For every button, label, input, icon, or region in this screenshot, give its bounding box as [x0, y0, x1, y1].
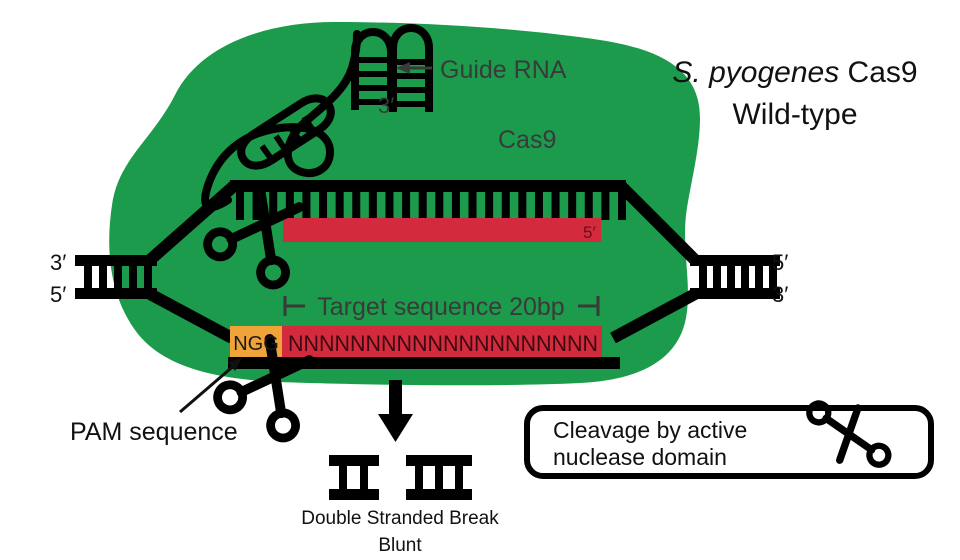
- cas9-label: Cas9: [498, 126, 556, 154]
- figure-title-line1: S. pyogenes Cas9: [672, 56, 917, 89]
- figure-title-protein: Cas9: [839, 56, 917, 89]
- target-sequence-label: Target sequence 20bp: [317, 293, 564, 321]
- base-pair-rung: [435, 190, 443, 220]
- target-sequence-text: NNNNNNNNNNNNNNNNNNNN: [288, 331, 598, 356]
- product-caption-line2: Blunt: [378, 535, 422, 556]
- dna-left-duplex: [75, 255, 157, 299]
- base-pair-rung: [485, 190, 493, 220]
- product-caption-line1: Double Stranded Break: [301, 508, 499, 529]
- figure-title-line2: Wild-type: [732, 98, 857, 131]
- guide-rna-5prime-label: 5′: [583, 223, 596, 242]
- base-pair-rung: [402, 190, 410, 220]
- figure-canvas: S. pyogenes Cas9 Wild-type Cas9 Guide RN…: [0, 0, 960, 560]
- crispr-cas9-diagram: S. pyogenes Cas9 Wild-type Cas9 Guide RN…: [0, 0, 960, 560]
- pam-sequence-label: PAM sequence: [70, 418, 238, 446]
- down-arrow-icon: [378, 380, 413, 442]
- legend-label-line1: Cleavage by active: [553, 417, 747, 443]
- base-pair-rung: [369, 190, 377, 220]
- dna-left-top-prime-label: 3′: [50, 250, 66, 275]
- guide-rna-label: Guide RNA: [440, 56, 567, 84]
- base-pair-rung: [618, 190, 626, 220]
- base-pair-rung: [452, 190, 460, 220]
- dna-right-top-prime-label: 5′: [772, 250, 788, 275]
- dna-right-duplex: [690, 255, 780, 299]
- base-pair-rung: [469, 190, 477, 220]
- figure-title-species: S. pyogenes: [672, 56, 839, 89]
- base-pair-rung: [319, 190, 327, 220]
- base-pair-rung: [535, 190, 543, 220]
- base-pair-rung: [336, 190, 344, 220]
- base-pair-rung: [552, 190, 560, 220]
- base-pair-rung: [502, 190, 510, 220]
- pam-sequence-text: NGG: [233, 333, 279, 355]
- product-fragment-left: [329, 455, 379, 500]
- dna-left-bottom-prime-label: 5′: [50, 282, 66, 307]
- base-pair-rung: [385, 190, 393, 220]
- base-pair-rung: [585, 190, 593, 220]
- base-pair-rung: [518, 190, 526, 220]
- base-pair-rung: [601, 190, 609, 220]
- guide-rna-3prime-label: 3′: [378, 93, 394, 118]
- legend-label-line2: nuclease domain: [553, 444, 727, 470]
- base-pair-rung: [352, 190, 360, 220]
- base-pair-rung: [419, 190, 427, 220]
- dna-right-bottom-prime-label: 3′: [772, 282, 788, 307]
- base-pair-rung: [568, 190, 576, 220]
- guide-rna-spacer-bar: [283, 218, 601, 242]
- base-pair-rung: [236, 190, 244, 220]
- product-fragment-right: [406, 455, 472, 500]
